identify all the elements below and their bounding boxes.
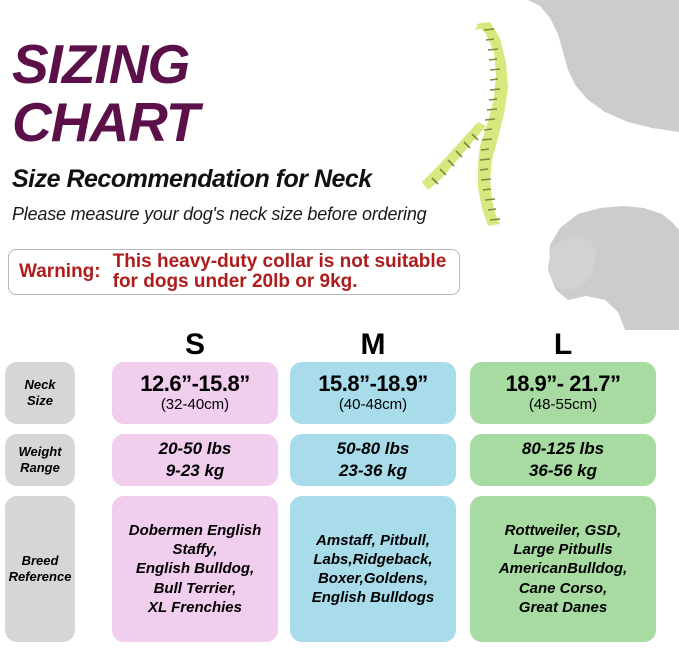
weight-m-lbs: 50-80 lbs (337, 438, 410, 460)
cell-breed-reference-l: Rottweiler, GSD,Large PitbullsAmericanBu… (470, 496, 656, 642)
cell-neck-size-s: 12.6”-15.8” (32-40cm) (112, 362, 278, 424)
breed-line: Rottweiler, GSD, (499, 521, 627, 540)
tape-tick-marks (480, 29, 500, 220)
row-label-line-1: Weight (18, 444, 61, 460)
breed-line: Labs,Ridgeback, (312, 550, 435, 569)
neck-size-m-cm: (40-48cm) (339, 396, 407, 414)
cell-neck-size-m: 15.8”-18.9” (40-48cm) (290, 362, 456, 424)
table-row-breed-reference: Breed Reference Dobermen EnglishStaffy,E… (0, 496, 679, 642)
breed-list-s: Dobermen EnglishStaffy,English Bulldog,B… (123, 521, 268, 617)
row-label-line-2: Range (20, 460, 60, 476)
cell-breed-reference-m: Amstaff, Pitbull,Labs,Ridgeback,Boxer,Go… (290, 496, 456, 642)
neck-size-s-inches: 12.6”-15.8” (140, 372, 249, 395)
warning-label: Warning: (9, 261, 101, 283)
dog-neck-shade (550, 236, 596, 290)
weight-l-kg: 36-56 kg (529, 460, 597, 482)
table-row-neck-size: Neck Size 12.6”-15.8” (32-40cm) 15.8”-18… (0, 362, 679, 424)
row-label-breed-reference: Breed Reference (5, 496, 75, 642)
breed-line: Cane Corso, (499, 579, 627, 598)
warning-box: Warning: This heavy-duty collar is not s… (8, 249, 460, 295)
cell-breed-reference-s: Dobermen EnglishStaffy,English Bulldog,B… (112, 496, 278, 642)
size-header-s: S (112, 330, 278, 360)
breed-line: English Bulldog, (129, 559, 262, 578)
size-header-row: S M L (0, 330, 679, 362)
warning-message: This heavy-duty collar is not suitable f… (101, 252, 447, 292)
cell-weight-range-s: 20-50 lbs 9-23 kg (112, 434, 278, 486)
row-label-line-2: Size (27, 393, 53, 409)
warning-message-line-1: This heavy-duty collar is not suitable (113, 252, 447, 272)
breed-line: Staffy, (129, 540, 262, 559)
breed-list-l: Rottweiler, GSD,Large PitbullsAmericanBu… (493, 521, 633, 617)
size-header-m: M (290, 330, 456, 360)
row-label-line-1: Neck (24, 377, 55, 393)
breed-line: Dobermen English (129, 521, 262, 540)
breed-line: Boxer,Goldens, (312, 569, 435, 588)
breed-line: AmericanBulldog, (499, 559, 627, 578)
breed-line: Bull Terrier, (129, 579, 262, 598)
weight-l-lbs: 80-125 lbs (522, 438, 604, 460)
size-header-l: L (470, 330, 656, 360)
breed-line: Large Pitbulls (499, 540, 627, 559)
neck-size-s-cm: (32-40cm) (161, 396, 229, 414)
neck-size-l-inches: 18.9”- 21.7” (505, 372, 620, 395)
cell-weight-range-m: 50-80 lbs 23-36 kg (290, 434, 456, 486)
table-row-weight-range: Weight Range 20-50 lbs 9-23 kg 50-80 lbs… (0, 434, 679, 486)
page-subtitle: Size Recommendation for Neck (0, 149, 480, 194)
cell-weight-range-l: 80-125 lbs 36-56 kg (470, 434, 656, 486)
breed-line: English Bulldogs (312, 588, 435, 607)
size-table: S M L Neck Size 12.6”-15.8” (32-40cm) 15… (0, 330, 679, 652)
breed-list-m: Amstaff, Pitbull,Labs,Ridgeback,Boxer,Go… (306, 531, 441, 608)
tape-measure-band (476, 22, 508, 226)
row-label-line-1: Breed (22, 553, 59, 569)
breed-line: Great Danes (499, 598, 627, 617)
measure-instruction-text: Please measure your dog's neck size befo… (0, 194, 480, 225)
breed-line: Amstaff, Pitbull, (312, 531, 435, 550)
header-block: SIZING CHART Size Recommendation for Nec… (0, 0, 480, 225)
page-title-line-2: CHART (0, 90, 480, 148)
cell-neck-size-l: 18.9”- 21.7” (48-55cm) (470, 362, 656, 424)
weight-m-kg: 23-36 kg (339, 460, 407, 482)
row-label-line-2: Reference (9, 569, 72, 585)
weight-s-kg: 9-23 kg (166, 460, 225, 482)
breed-line: XL Frenchies (129, 598, 262, 617)
warning-message-line-2: for dogs under 20lb or 9kg. (113, 272, 447, 292)
neck-size-l-cm: (48-55cm) (529, 396, 597, 414)
row-label-neck-size: Neck Size (5, 362, 75, 424)
neck-size-m-inches: 15.8”-18.9” (318, 372, 427, 395)
page-title-line-1: SIZING (0, 0, 480, 90)
row-label-weight-range: Weight Range (5, 434, 75, 486)
weight-s-lbs: 20-50 lbs (159, 438, 232, 460)
